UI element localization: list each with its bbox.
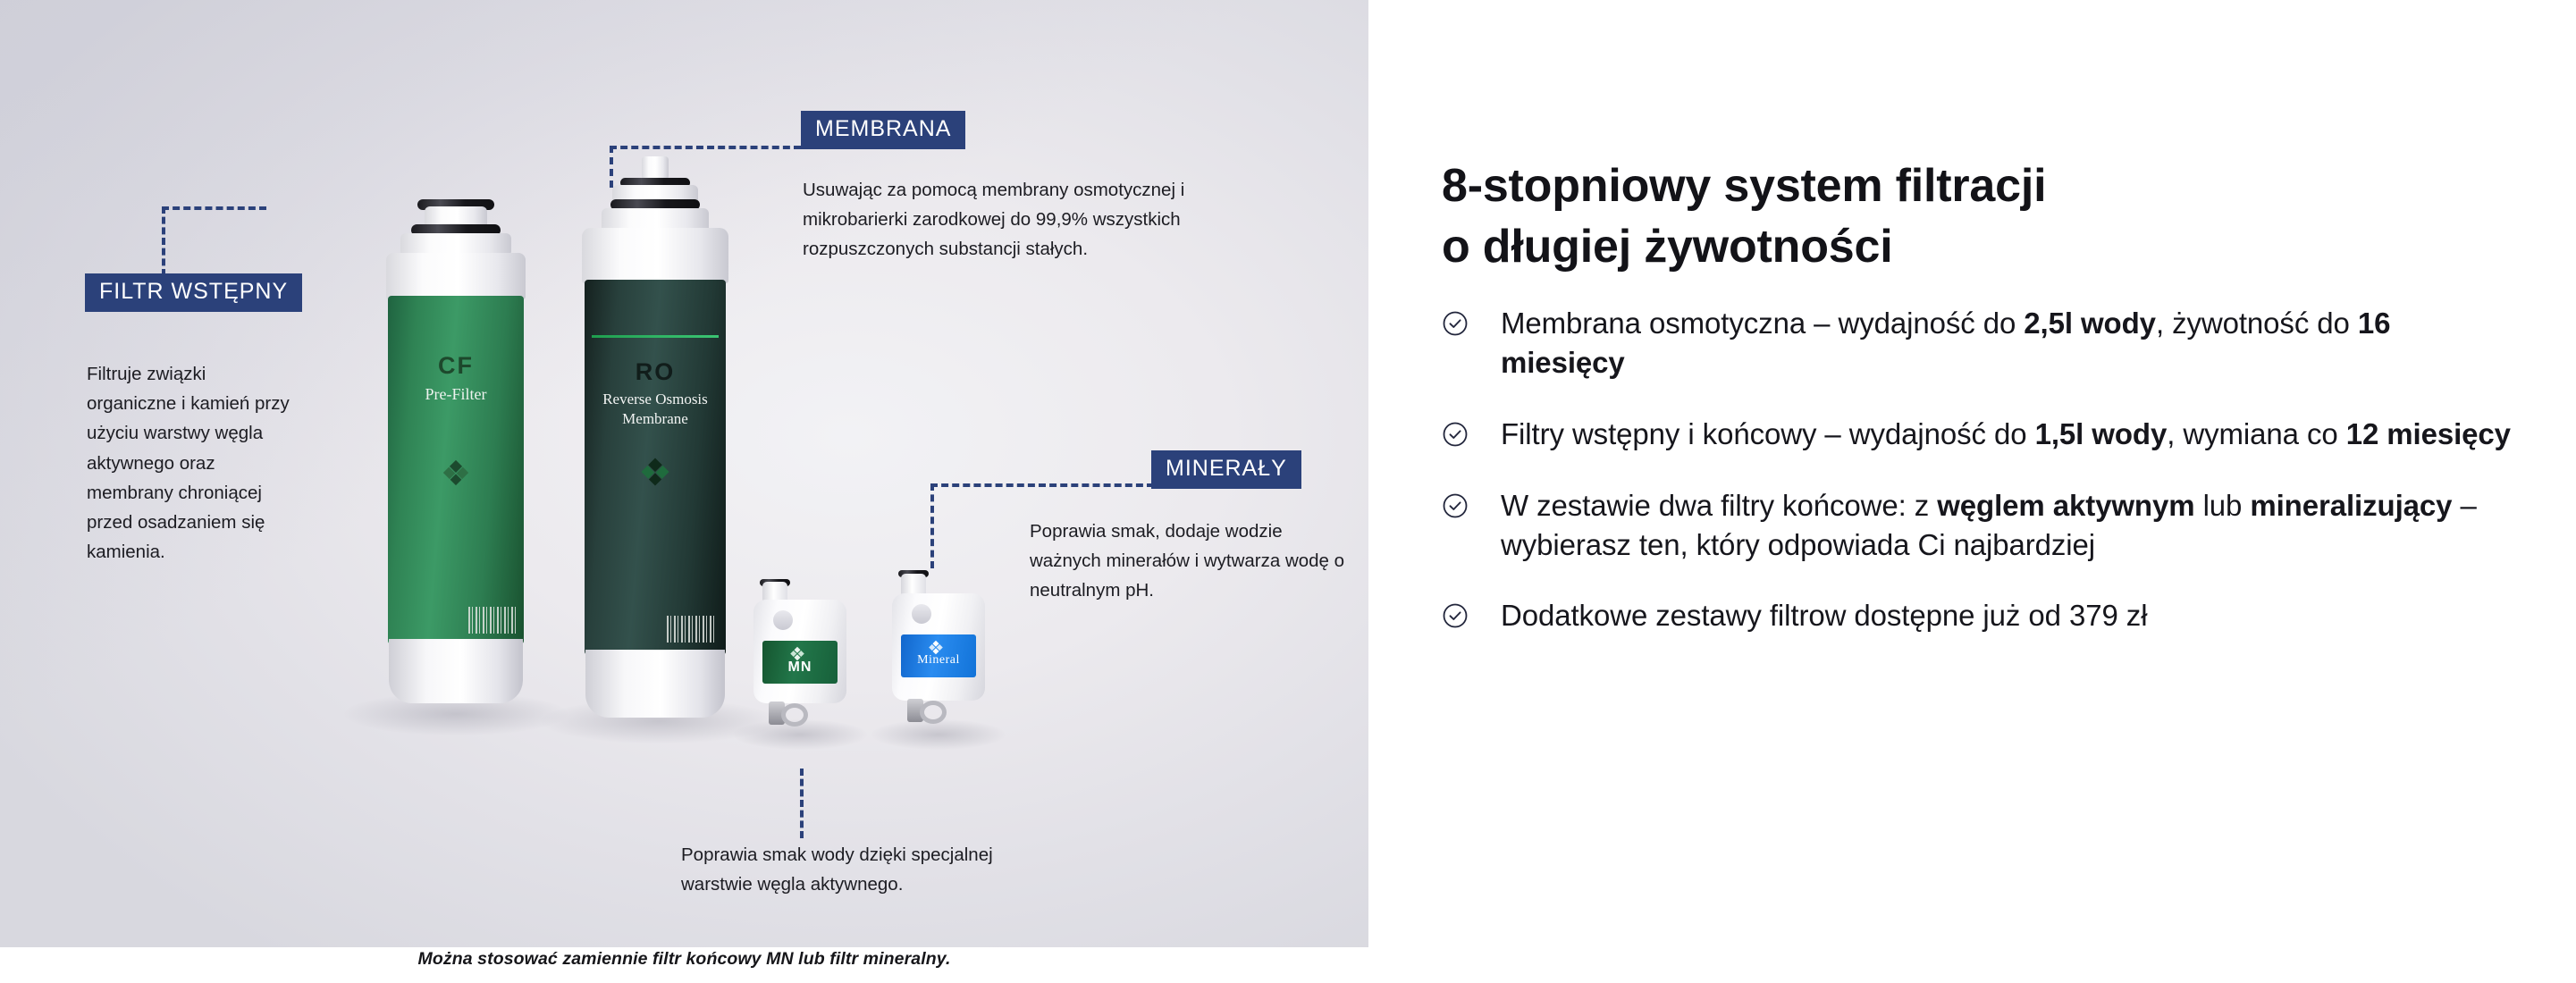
product-code-mn: MN <box>762 660 838 676</box>
product-mineral-filter: Mineral <box>871 554 1006 742</box>
list-item-text: Membrana osmotyczna – wydajność do 2,5l … <box>1501 304 2514 382</box>
brand-diamond-icon <box>790 647 804 661</box>
label-mn: MN <box>762 641 838 684</box>
check-circle-icon <box>1442 310 1469 337</box>
callout-badge-mineraly: MINERAŁY <box>1151 450 1301 489</box>
base-cap <box>389 639 523 703</box>
product-code-ro: RO <box>585 358 726 386</box>
list-item-text: W zestawie dwa filtry końcowe: z węglem … <box>1501 486 2514 565</box>
list-item-text: Dodatkowe zestawy filtrow dostępne już o… <box>1501 596 2514 635</box>
product-photo-panel: CF Pre-Filter RO Reverse Osmosis <box>0 0 1368 947</box>
cap-main <box>386 253 526 299</box>
footer-caption: Można stosować zamiennie filtr końcowy M… <box>0 949 1368 970</box>
clip-ring-icon <box>920 701 947 724</box>
list-item-text: Filtry wstępny i końcowy – wydajność do … <box>1501 415 2514 454</box>
connector-line-membrana-horizontal <box>610 146 801 149</box>
clip-ring-icon <box>781 703 808 727</box>
label-mineral: Mineral <box>901 634 976 677</box>
product-name-ro-line2: Membrane <box>585 410 726 428</box>
port-nub-icon <box>912 604 931 624</box>
label-stripe <box>592 335 719 338</box>
body-label-dark: RO Reverse Osmosis Membrane <box>585 280 726 655</box>
callout-description-membrana: Usuwając za pomocą membrany osmotycznej … <box>803 175 1187 265</box>
body-label-green: CF Pre-Filter <box>388 296 524 644</box>
check-circle-icon <box>1442 602 1469 629</box>
product-code-cf: CF <box>388 352 524 380</box>
list-item: Filtry wstępny i końcowy – wydajność do … <box>1442 415 2514 454</box>
list-item: Dodatkowe zestawy filtrow dostępne już o… <box>1442 596 2514 635</box>
product-pre-filter: CF Pre-Filter <box>349 192 563 719</box>
product-name-prefilter: Pre-Filter <box>388 385 524 404</box>
cap-main <box>582 228 728 283</box>
callout-description-prefilter: Filtruje związki organiczne i kamień prz… <box>87 359 292 567</box>
callout-badge-prefilter: FILTR WSTĘPNY <box>85 273 302 312</box>
brand-diamond-icon <box>929 641 943 655</box>
product-mn-filter: MN <box>733 559 867 742</box>
connector-line-mineraly-horizontal <box>930 483 1154 487</box>
connector-line-carbon-vertical <box>800 769 804 838</box>
cap-nipple <box>642 156 669 180</box>
connector-line-prefilter-vertical <box>162 206 165 276</box>
infographic-root: CF Pre-Filter RO Reverse Osmosis <box>0 0 2576 983</box>
callout-badge-membrana: MEMBRANA <box>801 111 965 149</box>
feature-list: Membrana osmotyczna – wydajność do 2,5l … <box>1442 304 2514 635</box>
callout-description-mineraly: Poprawia smak, dodaje wodzie ważnych min… <box>1030 517 1351 606</box>
base-cap <box>585 650 725 718</box>
check-circle-icon <box>1442 421 1469 448</box>
connector-line-mineraly-vertical <box>930 483 934 568</box>
list-item: Membrana osmotyczna – wydajność do 2,5l … <box>1442 304 2514 382</box>
barcode-icon <box>468 607 517 634</box>
headline-line-1: 8-stopniowy system filtracji <box>1442 156 2452 217</box>
connector-line-prefilter-horizontal <box>162 206 266 210</box>
brand-diamond-icon <box>641 458 669 485</box>
product-code-mineral: Mineral <box>901 653 976 668</box>
callout-description-carbon: Poprawia smak wody dzięki specjalnej war… <box>681 840 1003 899</box>
port-nub-icon <box>773 610 793 630</box>
page-title: 8-stopniowy system filtracji o długiej ż… <box>1442 156 2452 277</box>
brand-diamond-icon <box>443 460 468 485</box>
headline-line-2: o długiej żywotności <box>1442 217 2452 278</box>
details-panel: 8-stopniowy system filtracji o długiej ż… <box>1368 0 2576 983</box>
barcode-icon <box>667 616 717 643</box>
list-item: W zestawie dwa filtry końcowe: z węglem … <box>1442 486 2514 565</box>
check-circle-icon <box>1442 492 1469 519</box>
connector-line-membrana-vertical <box>610 146 613 188</box>
product-name-ro-line1: Reverse Osmosis <box>585 391 726 408</box>
